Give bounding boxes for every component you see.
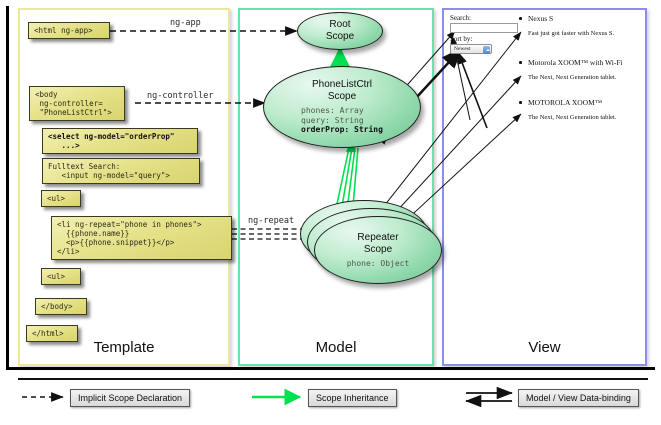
search-label: Search: [450,14,471,22]
phone-list-item[interactable]: Nexus S Fast just got faster with Nexus … [528,14,642,37]
panel-model-label: Model [240,339,432,356]
sort-by-selected-value: Newest [454,46,471,52]
code-box-li-repeat-tag[interactable]: <li ng-repeat="phone in phones"> {{phone… [51,216,232,260]
phone-snippet: The Next, Next Generation tablet. [528,74,642,81]
scope-repeater-title-line1: Repeater [357,232,398,243]
scope-repeater-title-line2: Scope [364,244,392,255]
bullet-icon [519,61,522,64]
legend-item-model-view-data-binding: Model / View Data-binding [518,389,639,407]
phone-snippet: The Next, Next Generation tablet. [528,114,642,121]
code-box-html-close-tag[interactable]: </html> [26,325,78,342]
sort-by-label: Sort by: [450,35,472,43]
code-box-ul-open-tag[interactable]: <ul> [41,190,81,207]
phone-name: Nexus S [528,14,642,23]
phone-name: MOTOROLA XOOM™ [528,98,642,107]
edge-label-ng-app: ng-app [168,18,203,28]
scope-root[interactable]: Root Scope [297,12,383,50]
scope-prop-query: query: String [301,116,383,126]
scope-repeater-title: Repeater Scope [357,232,398,256]
scope-prop-phone: phone: Object [347,259,410,269]
chevron-down-icon[interactable] [483,46,490,54]
scope-root-title: Root Scope [326,19,354,43]
scope-repeater-props: phone: Object [347,259,410,269]
scope-phonelistctrl-title: PhoneListCtrl Scope [312,79,372,103]
legend-divider [18,378,648,380]
legend-item-scope-inheritance: Scope Inheritance [308,389,397,407]
edge-label-ng-controller: ng-controller [145,91,216,101]
scope-phonelistctrl[interactable]: PhoneListCtrl Scope phones: Array query:… [263,66,421,148]
scope-phonelistctrl-title-line2: Scope [328,91,356,102]
scope-phonelistctrl-props: phones: Array query: String orderProp: S… [301,106,383,135]
code-box-body-tag[interactable]: <body ng-controller= "PhoneListCtrl"> [29,86,125,121]
edge-label-ng-repeat: ng-repeat [246,216,296,226]
code-box-ul-close-tag[interactable]: <ul> [41,268,81,285]
search-input[interactable] [450,23,518,33]
phone-list-item[interactable]: MOTOROLA XOOM™ The Next, Next Generation… [528,98,642,121]
scope-prop-phones: phones: Array [301,106,383,116]
scope-root-title-line2: Scope [326,31,354,42]
code-box-body-close-tag[interactable]: </body> [35,298,87,315]
diagram-canvas: Template Model View [0,0,661,425]
legend-item-implicit-scope-declaration: Implicit Scope Declaration [70,389,190,407]
sort-by-select[interactable]: Newest [450,44,492,54]
code-box-search-input[interactable]: Fulltext Search: <input ng-model="query"… [42,158,200,184]
code-box-select-tag[interactable]: <select ng-model="orderProp" ...> [42,128,198,154]
code-box-html-tag[interactable]: <html ng-app> [28,22,110,39]
panel-model: Model [238,8,434,366]
phone-snippet: Fast just got faster with Nexus S. [528,30,642,37]
phone-name: Motorola XOOM™ with Wi-Fi [528,58,642,67]
phone-list-item[interactable]: Motorola XOOM™ with Wi-Fi The Next, Next… [528,58,642,81]
panel-view-label: View [444,339,645,356]
scope-prop-orderprop: orderProp: String [301,125,383,135]
scope-phonelistctrl-title-line1: PhoneListCtrl [312,79,372,90]
bullet-icon [519,17,522,20]
bullet-icon [519,101,522,104]
scope-root-title-line1: Root [329,19,350,30]
view-app-preview: Search: Sort by: Newest Nexus S Fast jus… [450,14,642,134]
legend: Implicit Scope Declaration Scope Inherit… [18,381,648,417]
scope-repeater[interactable]: Repeater Scope phone: Object [314,216,442,284]
